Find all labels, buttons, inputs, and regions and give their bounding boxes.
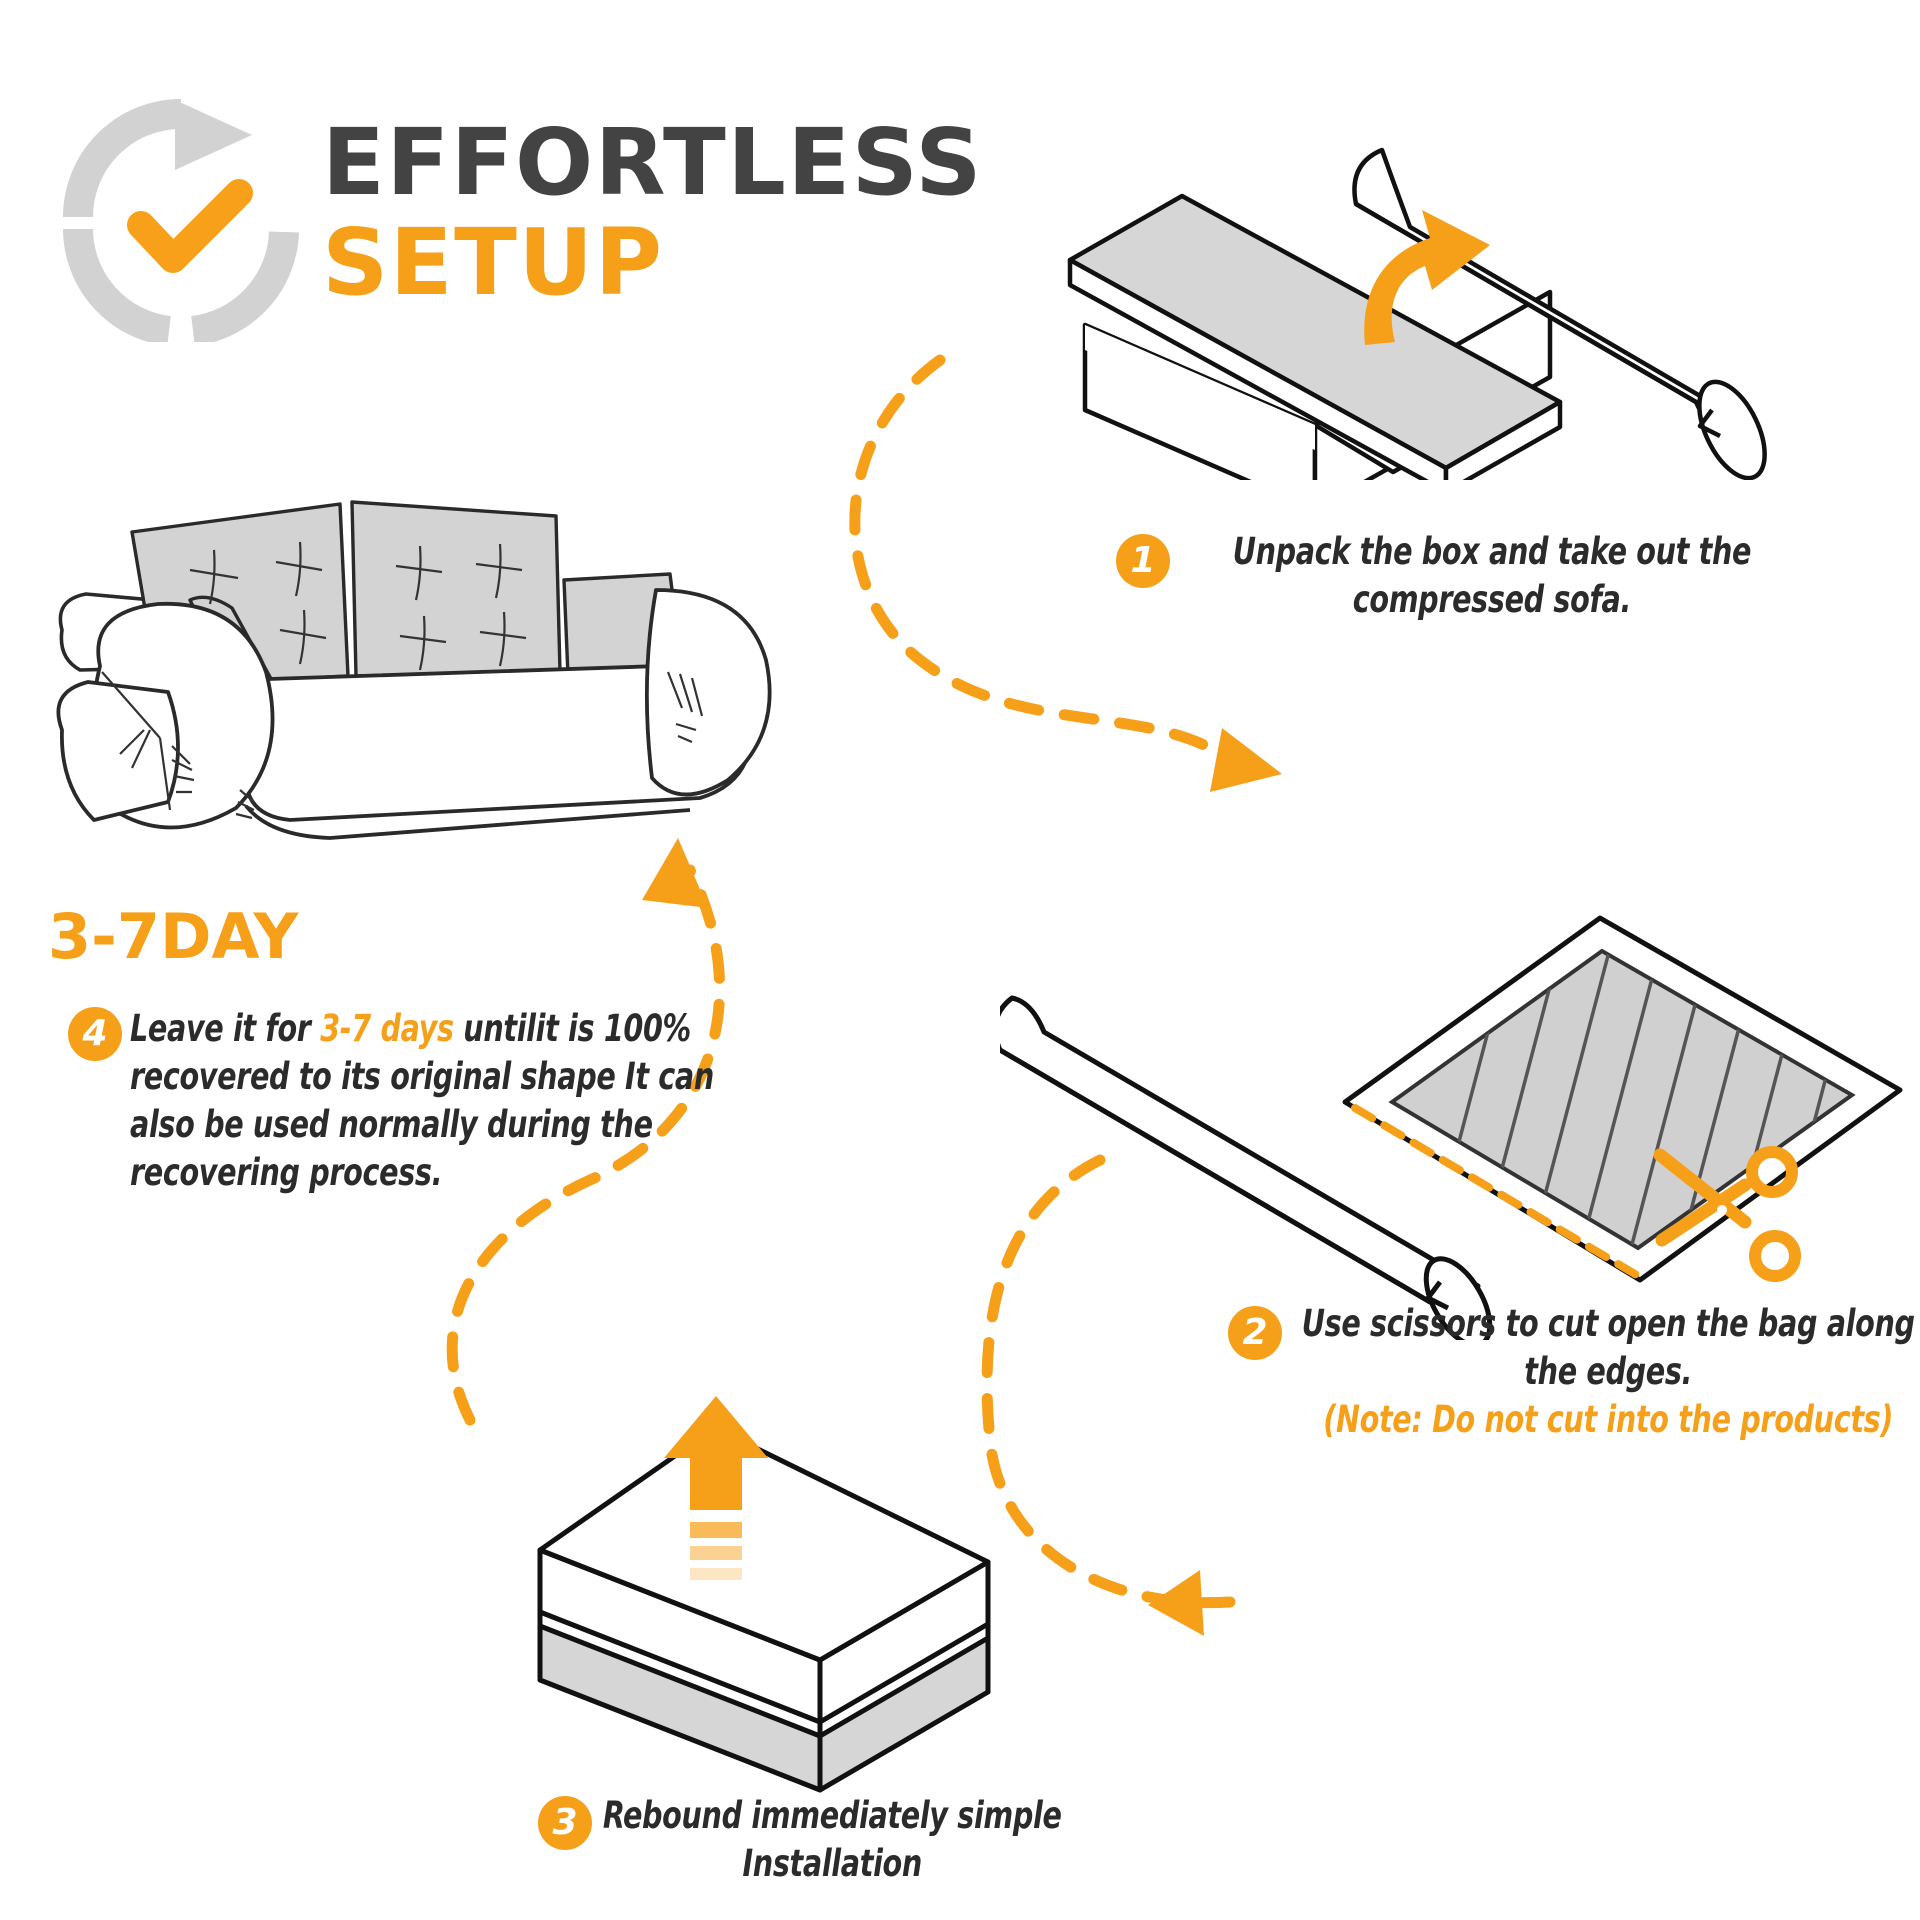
step-3-line-1: Rebound immediately simple bbox=[603, 1794, 1062, 1837]
step-4-text-part1: Leave it for bbox=[130, 1007, 320, 1050]
step-4-text-block: 4 Leave it for 3-7 days untilit is 100% … bbox=[130, 1005, 790, 1197]
page-title: EFFORTLESS SETUP bbox=[322, 118, 983, 308]
step-2-text-block: 2 Use scissors to cut open the bag along… bbox=[1290, 1300, 1920, 1444]
step-1-line-2: compressed sofa. bbox=[1353, 578, 1631, 621]
infographic-canvas: EFFORTLESS SETUP bbox=[0, 0, 1920, 1920]
title-line-effortless: EFFORTLESS bbox=[322, 118, 983, 208]
step-1-badge: 1 bbox=[1116, 534, 1170, 588]
foam-block-illustration bbox=[520, 1390, 1000, 1810]
step-3-badge: 3 bbox=[538, 1796, 592, 1850]
step-4-badge: 4 bbox=[68, 1007, 122, 1061]
recovery-days-label: 3-7DAY bbox=[48, 900, 298, 973]
step-2-line-1: Use scissors to cut open the bag along bbox=[1302, 1302, 1915, 1345]
title-line-setup: SETUP bbox=[322, 218, 983, 308]
refresh-check-circle-icon bbox=[56, 92, 306, 342]
step-1-text-block: 1 Unpack the box and take out the compre… bbox=[1178, 528, 1818, 624]
step-2-note: (Note: Do not cut into the products) bbox=[1290, 1396, 1920, 1444]
step-4-highlight: 3-7 days bbox=[320, 1007, 453, 1050]
step-3-text-block: 3 Rebound immediately simple Installatio… bbox=[600, 1792, 1080, 1888]
step-2-line-2: the edges. bbox=[1524, 1350, 1692, 1393]
step-1-line-1: Unpack the box and take out the bbox=[1233, 530, 1751, 573]
sofa-illustration bbox=[40, 480, 800, 900]
step-3-line-2: Installation bbox=[742, 1842, 921, 1885]
